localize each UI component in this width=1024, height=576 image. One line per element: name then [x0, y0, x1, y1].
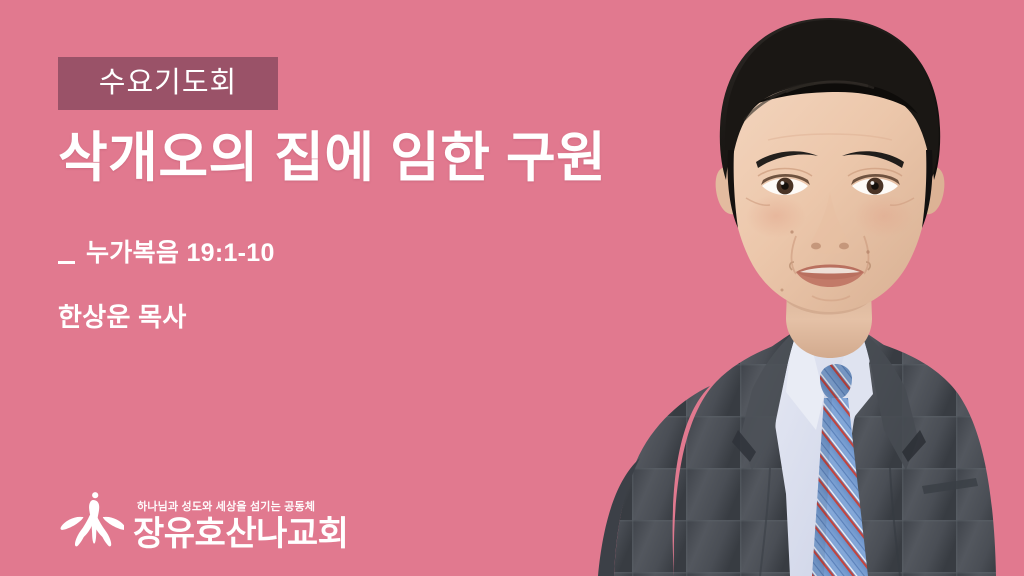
dash-prefix-icon — [58, 261, 75, 264]
hosanna-flower-emblem-icon — [60, 487, 124, 551]
speaker-name: 한상운 목사 — [58, 303, 187, 332]
logo-church-name: 장유호산나교회 — [133, 517, 348, 551]
speaker-portrait — [524, 0, 1024, 576]
category-badge: 수요기도회 — [58, 57, 278, 110]
scripture-reference: 누가복음 19:1-10 — [58, 240, 275, 268]
logo-tagline: 하나님과 성도와 세상을 섬기는 공동체 — [137, 502, 315, 513]
scripture-reference-text: 누가복음 19:1-10 — [86, 240, 275, 268]
church-logo: 하나님과 성도와 세상을 섬기는 공동체 장유호산나교회 — [60, 487, 348, 551]
logo-wordmark: 하나님과 성도와 세상을 섬기는 공동체 장유호산나교회 — [133, 502, 348, 551]
sermon-title-card: 수요기도회 삭개오의 집에 임한 구원 누가복음 19:1-10 한상운 목사 — [0, 0, 1024, 576]
sermon-title: 삭개오의 집에 임한 구원 — [58, 128, 606, 188]
category-badge-label: 수요기도회 — [99, 69, 237, 98]
speaker-portrait-image — [524, 0, 1024, 576]
